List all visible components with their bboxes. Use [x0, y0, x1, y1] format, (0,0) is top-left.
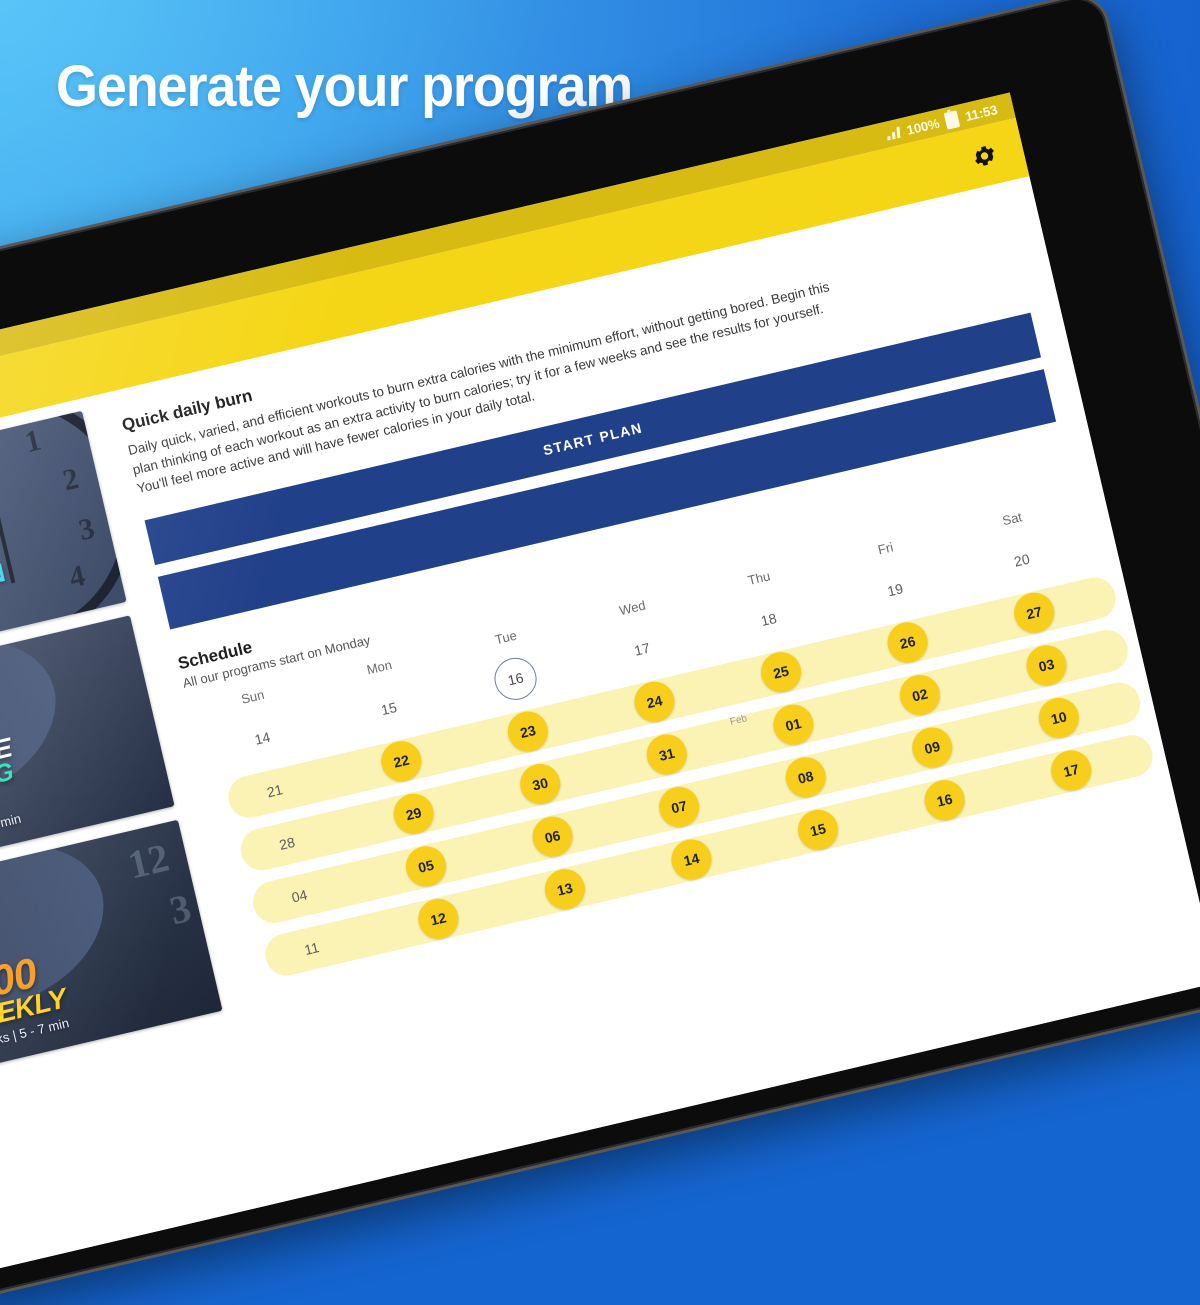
status-clock: 11:53 [964, 102, 999, 124]
workout-day-marker[interactable]: 31 [643, 730, 691, 778]
clock-numeral: 3 [76, 512, 98, 549]
workout-day-marker[interactable]: 23 [504, 707, 552, 755]
workout-day-marker[interactable]: 30 [516, 760, 564, 808]
day-number[interactable]: 15 [365, 684, 413, 732]
gear-icon[interactable] [969, 140, 1000, 171]
day-number[interactable]: 20 [998, 536, 1046, 584]
workout-day-marker[interactable]: 14 [667, 835, 715, 883]
clock-numeral: 4 [66, 559, 88, 596]
clock-numeral: 2 [60, 462, 82, 499]
program-card-meta: 4 Weeks | 5 - 7 min [0, 811, 22, 851]
today-marker[interactable]: 16 [490, 653, 540, 703]
month-tag: Feb [729, 713, 748, 728]
promo-headline: Generate your program [56, 58, 632, 116]
day-number[interactable]: 17 [618, 625, 666, 673]
workout-day-marker[interactable]: 06 [528, 812, 576, 860]
workout-day-marker[interactable]: 26 [883, 618, 931, 666]
tablet-screen: 100% 11:53 12 1 2 [0, 93, 1200, 1272]
workout-day-marker[interactable]: 09 [908, 723, 956, 771]
workout-day-marker[interactable]: 02 [896, 671, 944, 719]
workout-day-marker[interactable]: 05 [402, 842, 450, 890]
battery-percent-label: 100% [905, 115, 941, 137]
schedule-section: Schedule All our programs start on Monda… [176, 447, 1141, 990]
day-number[interactable]: 28 [263, 819, 311, 867]
workout-day-marker[interactable]: 24 [630, 677, 678, 725]
workout-day-marker[interactable]: 08 [782, 753, 830, 801]
workout-day-marker[interactable]: 01 [769, 700, 817, 748]
workout-day-marker[interactable]: 29 [390, 789, 438, 837]
clock-numeral: 12 [124, 834, 174, 889]
day-number[interactable]: 19 [871, 565, 919, 613]
clock-numeral: 3 [165, 884, 195, 934]
program-card-1000-weekly[interactable]: 12 3 1000 WEEKLY 4 Weeks | 5 - 7 min [0, 820, 223, 1075]
workout-day-marker[interactable]: 27 [1010, 588, 1058, 636]
day-number[interactable]: 21 [251, 766, 299, 814]
day-number[interactable]: 18 [745, 595, 793, 643]
day-number[interactable]: 14 [238, 714, 286, 762]
workout-day-marker[interactable]: 07 [655, 783, 703, 831]
day-number[interactable]: 11 [288, 924, 336, 972]
decorative-shape [0, 615, 84, 841]
signal-bars-icon [887, 126, 901, 140]
clock-numeral: 1 [22, 423, 44, 460]
workout-day-marker[interactable]: 15 [794, 805, 842, 853]
battery-full-icon [944, 110, 961, 130]
workout-day-marker[interactable]: 22 [377, 737, 425, 785]
workout-day-marker[interactable]: 10 [1035, 694, 1083, 742]
clock-numeral: 12 [0, 411, 1, 451]
day-number[interactable]: 04 [275, 872, 323, 920]
workout-day-marker[interactable]: 12 [414, 895, 462, 943]
workout-day-marker[interactable]: 16 [920, 776, 968, 824]
workout-day-marker[interactable]: 13 [541, 865, 589, 913]
workout-day-marker[interactable]: 25 [757, 648, 805, 696]
workout-day-marker[interactable]: 03 [1022, 641, 1070, 689]
workout-day-marker[interactable]: 17 [1047, 746, 1095, 794]
